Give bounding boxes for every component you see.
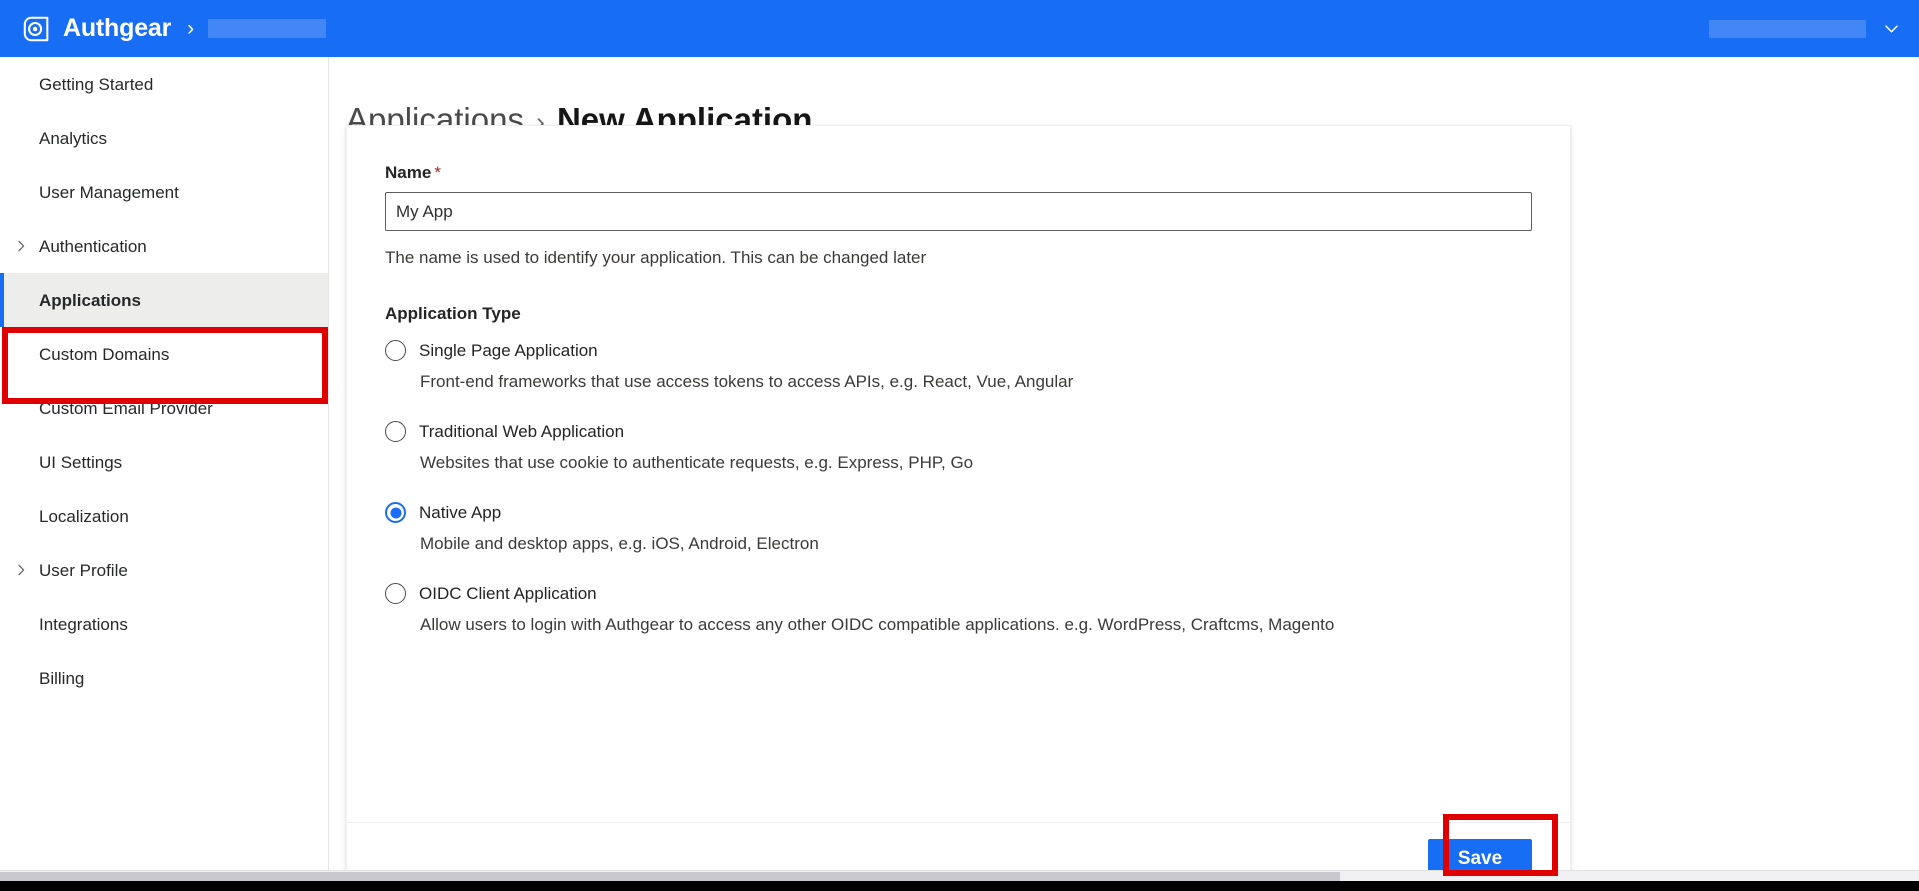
sidebar-item-label: User Profile	[39, 562, 128, 579]
sidebar-item-analytics[interactable]: Analytics	[0, 111, 328, 165]
sidebar-navigation: Getting Started Analytics User Managemen…	[0, 57, 329, 870]
application-type-option-single-page: Single Page Application Front-end framew…	[385, 340, 1532, 394]
sidebar-item-label: User Management	[39, 184, 179, 201]
sidebar-item-custom-domains[interactable]: Custom Domains	[0, 327, 328, 381]
sidebar-item-user-profile[interactable]: User Profile	[0, 543, 328, 597]
name-input[interactable]	[385, 192, 1532, 231]
sidebar-item-localization[interactable]: Localization	[0, 489, 328, 543]
topbar-breadcrumb-separator: ›	[187, 18, 194, 39]
sidebar-item-label: Localization	[39, 508, 129, 525]
radio-single-page-application[interactable]: Single Page Application	[385, 340, 1532, 361]
application-type-option-traditional-web: Traditional Web Application Websites tha…	[385, 421, 1532, 475]
sidebar-item-label: Analytics	[39, 130, 107, 147]
chevron-right-icon[interactable]	[13, 238, 29, 254]
brand-home-link[interactable]: Authgear	[22, 14, 171, 44]
application-type-option-native-app: Native App Mobile and desktop apps, e.g.…	[385, 502, 1532, 556]
main-content: Applications › New Application Name* The…	[330, 57, 1919, 870]
user-name-redacted	[1709, 20, 1866, 38]
sidebar-item-integrations[interactable]: Integrations	[0, 597, 328, 651]
radio-oidc-client-application[interactable]: OIDC Client Application	[385, 583, 1532, 604]
sidebar-item-label: Authentication	[39, 238, 147, 255]
chevron-down-icon	[1882, 19, 1901, 38]
sidebar-item-label: Custom Email Provider	[39, 400, 213, 417]
application-type-option-oidc-client: OIDC Client Application Allow users to l…	[385, 583, 1532, 637]
user-menu[interactable]	[1709, 19, 1901, 38]
radio-description: Mobile and desktop apps, e.g. iOS, Andro…	[420, 531, 1465, 556]
horizontal-scrollbar-thumb[interactable]	[0, 872, 1340, 881]
radio-label: Traditional Web Application	[419, 422, 624, 442]
sidebar-item-label: Integrations	[39, 616, 128, 633]
application-type-radio-group: Single Page Application Front-end framew…	[385, 340, 1532, 638]
chevron-right-icon[interactable]	[13, 562, 29, 578]
radio-label: Native App	[419, 503, 501, 523]
sidebar-item-ui-settings[interactable]: UI Settings	[0, 435, 328, 489]
application-type-label: Application Type	[385, 304, 1532, 324]
window-bottom-edge	[0, 881, 1919, 891]
sidebar-item-billing[interactable]: Billing	[0, 651, 328, 705]
sidebar-item-label: Custom Domains	[39, 346, 169, 363]
radio-button-icon[interactable]	[385, 421, 406, 442]
app-root: Authgear › Getting Started Analytics Use…	[0, 0, 1919, 891]
form-footer: Save	[347, 822, 1570, 870]
sidebar-item-getting-started[interactable]: Getting Started	[0, 57, 328, 111]
sidebar-item-user-management[interactable]: User Management	[0, 165, 328, 219]
authgear-logo-icon	[22, 14, 52, 44]
radio-button-icon[interactable]	[385, 583, 406, 604]
radio-description: Front-end frameworks that use access tok…	[420, 369, 1465, 394]
sidebar-item-label: Applications	[39, 292, 141, 309]
name-help-text: The name is used to identify your applic…	[385, 248, 1532, 268]
name-field-label: Name*	[385, 163, 1532, 183]
radio-label: OIDC Client Application	[419, 584, 597, 604]
top-bar: Authgear ›	[0, 0, 1919, 57]
sidebar-item-label: Billing	[39, 670, 84, 687]
radio-button-icon-selected[interactable]	[385, 502, 406, 523]
radio-description: Websites that use cookie to authenticate…	[420, 450, 1465, 475]
radio-button-icon[interactable]	[385, 340, 406, 361]
horizontal-scrollbar[interactable]	[0, 870, 1919, 881]
new-application-form-card: Name* The name is used to identify your …	[346, 125, 1571, 870]
name-label-text: Name	[385, 163, 431, 182]
radio-label: Single Page Application	[419, 341, 598, 361]
sidebar-item-authentication[interactable]: Authentication	[0, 219, 328, 273]
sidebar-item-label: UI Settings	[39, 454, 122, 471]
sidebar-item-applications[interactable]: Applications	[0, 273, 328, 327]
radio-native-app[interactable]: Native App	[385, 502, 1532, 523]
sidebar-item-custom-email-provider[interactable]: Custom Email Provider	[0, 381, 328, 435]
required-marker: *	[434, 163, 441, 182]
radio-description: Allow users to login with Authgear to ac…	[420, 612, 1465, 637]
project-name-redacted[interactable]	[208, 19, 326, 38]
sidebar-item-label: Getting Started	[39, 76, 153, 93]
radio-traditional-web-application[interactable]: Traditional Web Application	[385, 421, 1532, 442]
save-button[interactable]: Save	[1428, 839, 1532, 871]
brand-name: Authgear	[63, 16, 171, 41]
